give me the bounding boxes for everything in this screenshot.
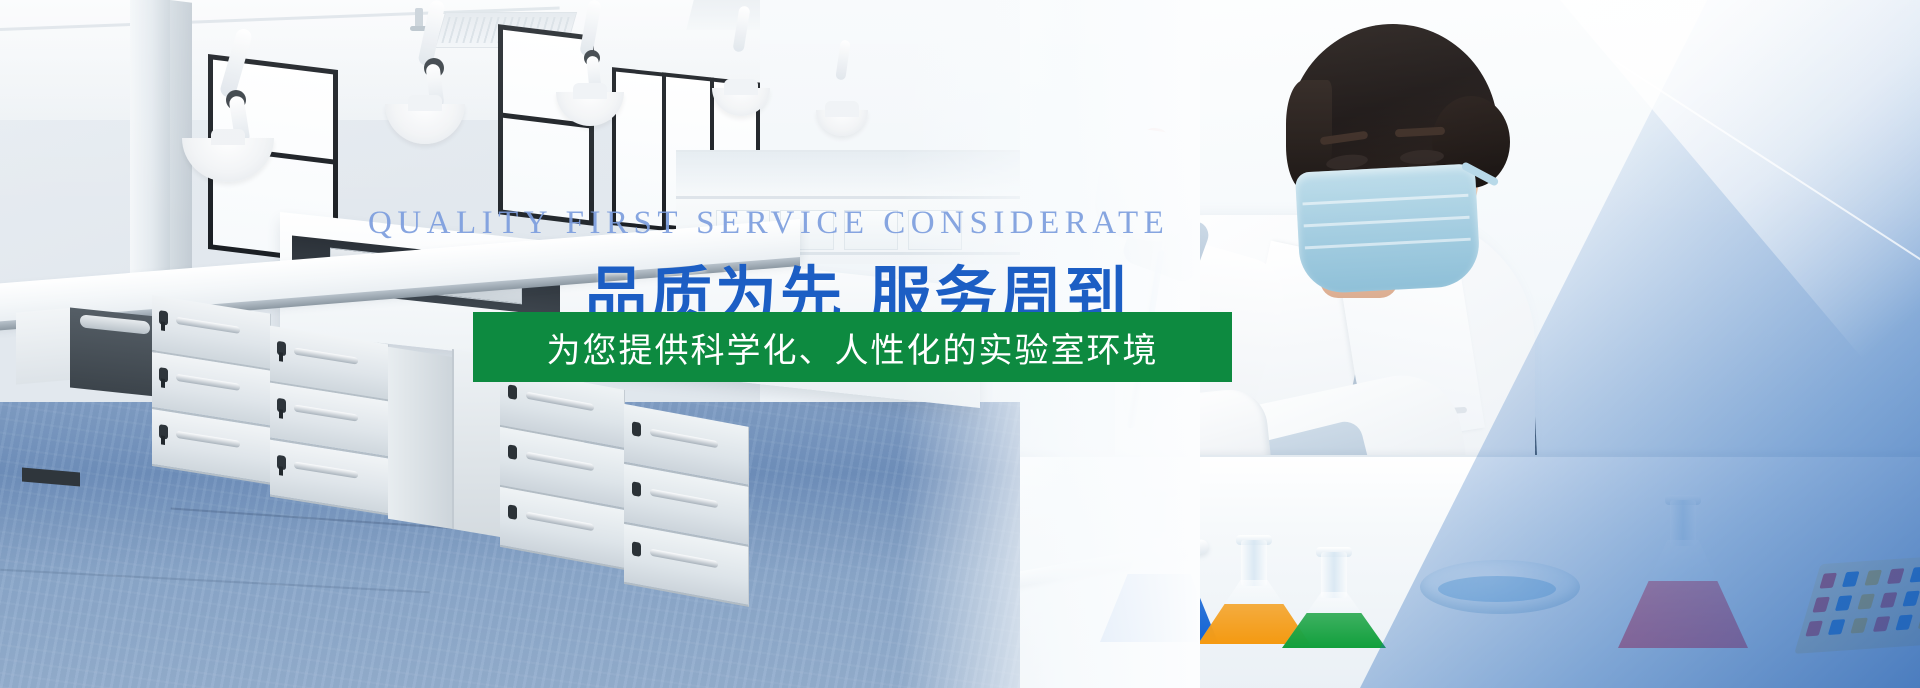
banner-subtitle-bar: 为您提供科学化、人性化的实验室环境 [473, 312, 1232, 382]
banner-eyebrow-text: QUALITY FIRST SERVICE CONSIDERATE [368, 205, 1028, 242]
banner-subtitle-text: 为您提供科学化、人性化的实验室环境 [473, 312, 1232, 382]
banner-text-layer: QUALITY FIRST SERVICE CONSIDERATE 品质为先 服… [0, 0, 1920, 688]
lab-hero-banner: QUALITY FIRST SERVICE CONSIDERATE 品质为先 服… [0, 0, 1920, 688]
